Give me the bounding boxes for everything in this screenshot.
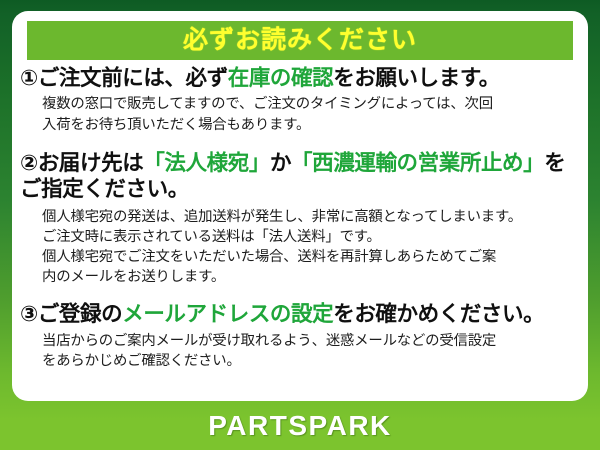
notice-item-1-heading: ①ご注文前には、必ず在庫の確認をお願いします。 (20, 65, 578, 91)
notice-item-2-note-line-1: 個人様宅宛の発送は、追加送料が発生し、非常に高額となってしまいます。 (42, 207, 578, 227)
notice-item-2-marker: ② (20, 151, 38, 175)
notice-item-1-marker: ① (20, 66, 38, 90)
banner-title: 必ずお読みください (183, 28, 417, 53)
notice-item-2-note-line-3: 個人様宅宛でご注文をいただいた場合、送料を再計算しあらためてご案 (42, 247, 578, 267)
notice-item-3: ③ご登録のメールアドレスの設定をお確かめください。 当店からのご案内メールが受け… (20, 301, 578, 371)
notice-item-1: ①ご注文前には、必ず在庫の確認をお願いします。 複数の窓口で販売してますので、ご… (20, 65, 578, 135)
notice-item-2-note: 個人様宅宛の発送は、追加送料が発生し、非常に高額となってしまいます。 ご注文時に… (42, 207, 578, 288)
notice-item-2-note-line-2: ご注文時に表示されている送料は「法人送料」です。 (42, 227, 578, 247)
notice-list: ①ご注文前には、必ず在庫の確認をお願いします。 複数の窓口で販売してますので、ご… (12, 65, 588, 401)
notice-item-3-heading: ③ご登録のメールアドレスの設定をお確かめください。 (20, 301, 578, 327)
notice-item-1-note-line-2: 入荷をお待ち頂いただく場合もあります。 (42, 115, 578, 135)
notice-item-2-note-line-4: 内のメールをお送りします。 (42, 267, 578, 287)
notice-item-1-note: 複数の窓口で販売してますので、ご注文のタイミングによっては、次回 入荷をお待ち頂… (42, 94, 578, 134)
notice-item-3-heading-part-1: ご登録の (38, 302, 122, 326)
notice-item-2-highlight-2: 「西濃運輸の営業所止め」 (291, 151, 544, 175)
notice-item-3-highlight: メールアドレスの設定 (122, 302, 333, 326)
title-banner: 必ずお読みください (27, 21, 573, 60)
notice-item-1-heading-part-3: をお願いします。 (333, 66, 500, 90)
notice-card: 必ずお読みください ①ご注文前には、必ず在庫の確認をお願いします。 複数の窓口で… (12, 11, 588, 401)
notice-item-3-marker: ③ (20, 302, 38, 326)
notice-item-2-heading-part-3: か (270, 151, 291, 175)
notice-item-3-note: 当店からのご案内メールが受け取れるよう、迷惑メールなどの受信設定 をあらかじめご… (42, 331, 578, 371)
notice-item-2-heading: ②お届け先は「法人様宛」か「西濃運輸の営業所止め」をご指定ください。 (20, 150, 578, 203)
brand-name: PARTSPARK (208, 412, 392, 440)
notice-item-1-heading-part-1: ご注文前には、必ず (38, 66, 228, 90)
footer-brand-bar: PARTSPARK (0, 401, 600, 450)
notice-item-3-note-line-2: をあらかじめご確認ください。 (42, 351, 578, 371)
notice-item-3-note-line-1: 当店からのご案内メールが受け取れるよう、迷惑メールなどの受信設定 (42, 331, 578, 351)
notice-item-1-highlight: 在庫の確認 (228, 66, 334, 90)
notice-item-3-heading-part-3: をお確かめください。 (333, 302, 544, 326)
notice-item-1-note-line-1: 複数の窓口で販売してますので、ご注文のタイミングによっては、次回 (42, 94, 578, 114)
notice-item-2-highlight-1: 「法人様宛」 (143, 151, 270, 175)
notice-item-2: ②お届け先は「法人様宛」か「西濃運輸の営業所止め」をご指定ください。 個人様宅宛… (20, 150, 578, 288)
notice-poster: 必ずお読みください ①ご注文前には、必ず在庫の確認をお願いします。 複数の窓口で… (0, 0, 600, 450)
notice-item-2-heading-part-1: お届け先は (38, 151, 144, 175)
